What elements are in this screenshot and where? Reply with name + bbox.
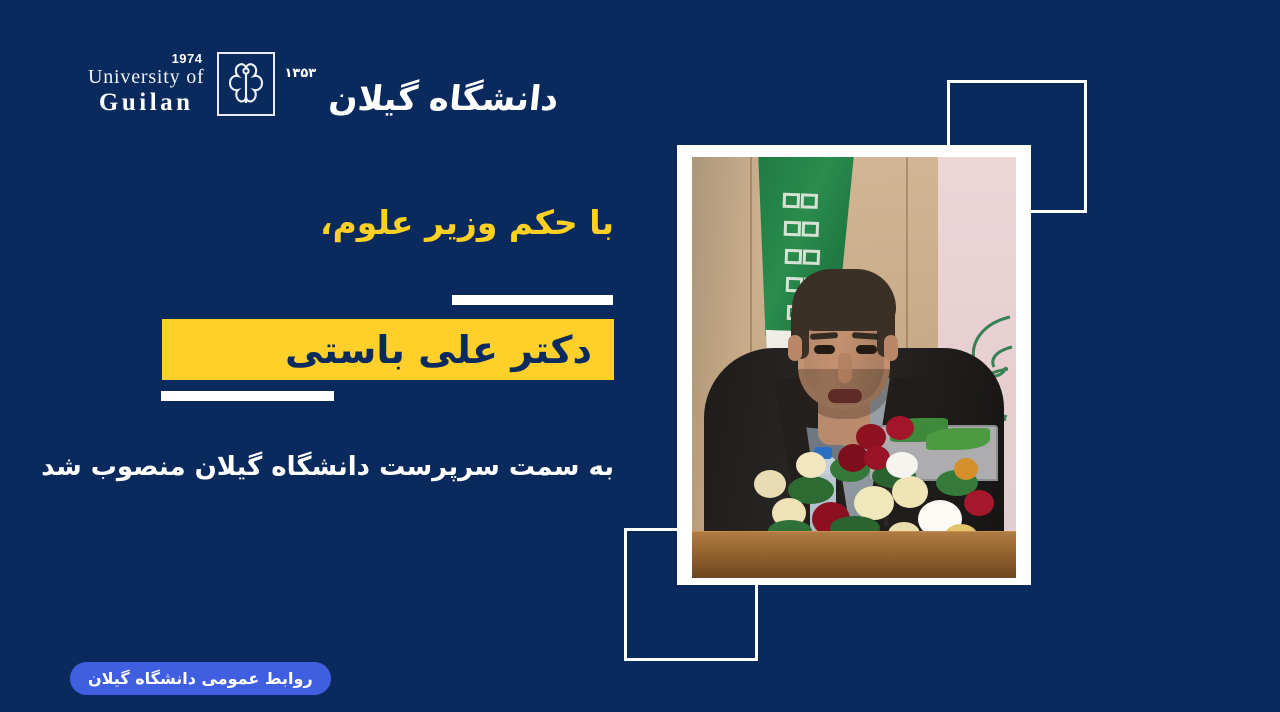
accent-rule-bottom	[161, 391, 334, 401]
logo-year-gregorian: 1974	[88, 52, 205, 66]
speaker-photo	[692, 157, 1016, 578]
ear-left	[788, 335, 802, 361]
logo-name-english: Guilan	[88, 90, 205, 116]
nose	[838, 353, 852, 383]
podium	[692, 532, 1016, 578]
photo-frame	[677, 145, 1031, 585]
public-relations-badge: روابط عمومی دانشگاه گیلان	[70, 662, 331, 695]
ear-right	[884, 335, 898, 361]
eye-right	[856, 345, 877, 354]
subline-text: به سمت سرپرست دانشگاه گیلان منصوب شد	[41, 452, 614, 482]
mouth	[828, 389, 862, 403]
logo-persian-text: ۱۳۵۳ دانشگاه گیلان	[275, 48, 558, 120]
logo-university-word: University of	[88, 67, 205, 88]
eye-left	[814, 345, 835, 354]
university-logo: 1974 University of Guilan ۱۳۵۳ دانشگاه گ…	[88, 44, 558, 124]
accent-rule-top	[452, 295, 613, 305]
logo-name-persian: دانشگاه گیلان	[281, 82, 560, 116]
announcement-poster: 1974 University of Guilan ۱۳۵۳ دانشگاه گ…	[0, 0, 1280, 712]
badge-label: روابط عمومی دانشگاه گیلان	[88, 671, 313, 687]
person-name: دکتر علی باستی	[285, 331, 592, 369]
flower-arrangement	[768, 412, 1016, 544]
logo-year-solar: ۱۳۵۳	[285, 66, 317, 81]
logo-english-text: 1974 University of Guilan	[88, 52, 217, 116]
name-highlight-bar: دکتر علی باستی	[162, 319, 614, 380]
university-emblem-icon	[217, 52, 275, 116]
kicker-text: با حکم وزیر علوم،	[320, 203, 614, 242]
